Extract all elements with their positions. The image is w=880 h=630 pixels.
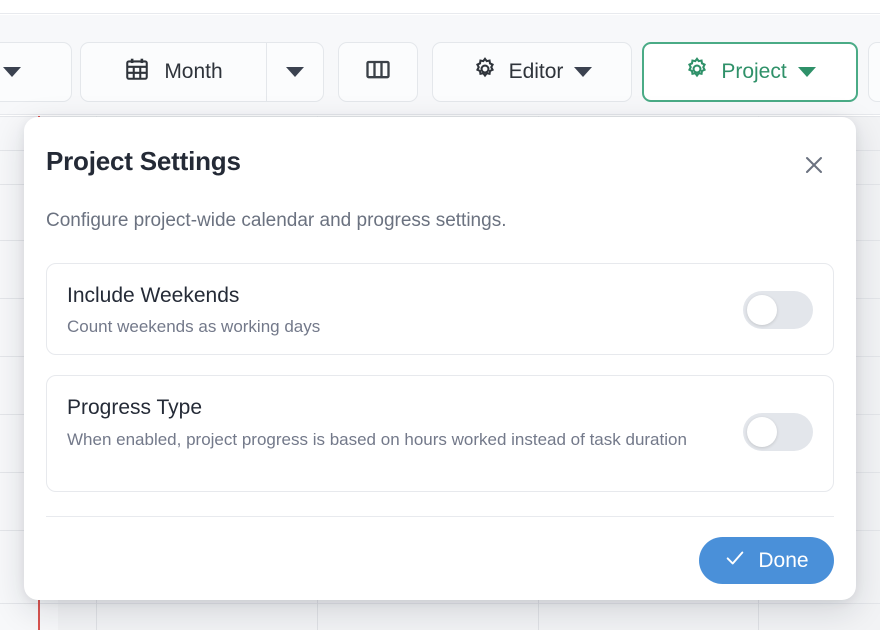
editor-menu-button[interactable]: Editor (432, 42, 632, 102)
project-label: Project (721, 60, 786, 84)
view-scale-label: Month (164, 60, 222, 84)
toggle-knob (747, 417, 777, 447)
view-scale-main[interactable]: Month (81, 43, 267, 101)
window-top-strip (0, 0, 880, 14)
setting-title: Progress Type (67, 396, 202, 420)
check-icon (724, 547, 746, 575)
setting-row-include-weekends: Include Weekends Count weekends as worki… (46, 263, 834, 355)
view-scale-dropdown-arrow[interactable] (267, 43, 323, 101)
chevron-down-icon (286, 67, 304, 77)
view-scale-split-button[interactable]: Month (80, 42, 324, 102)
chevron-down-icon (574, 67, 592, 77)
chevron-down-icon (3, 67, 21, 77)
toolbar-left-dropdown[interactable] (0, 42, 72, 102)
setting-title: Include Weekends (67, 284, 239, 308)
setting-row-progress-type: Progress Type When enabled, project prog… (46, 375, 834, 492)
grid-row (0, 603, 880, 604)
toolbar-right-overflow-button[interactable] (868, 42, 880, 102)
gear-icon (472, 56, 498, 88)
progress-type-toggle[interactable] (743, 413, 813, 451)
project-settings-dialog (24, 117, 856, 600)
done-button[interactable]: Done (699, 537, 834, 584)
chevron-down-icon (798, 67, 816, 77)
toggle-knob (747, 295, 777, 325)
project-menu-button[interactable]: Project (642, 42, 858, 102)
dialog-title: Project Settings (46, 146, 241, 177)
close-icon[interactable] (798, 150, 830, 180)
setting-description: When enabled, project progress is based … (67, 428, 727, 453)
columns-toggle-button[interactable] (338, 42, 418, 102)
setting-description: Count weekends as working days (67, 315, 727, 340)
dialog-subtitle: Configure project-wide calendar and prog… (46, 210, 506, 232)
gear-icon (684, 56, 710, 88)
dialog-divider (46, 516, 834, 517)
editor-label: Editor (509, 60, 564, 84)
done-label: Done (758, 549, 808, 573)
include-weekends-toggle[interactable] (743, 291, 813, 329)
calendar-icon (124, 56, 150, 88)
app-root: Month Editor (0, 0, 880, 630)
columns-icon (364, 55, 392, 89)
